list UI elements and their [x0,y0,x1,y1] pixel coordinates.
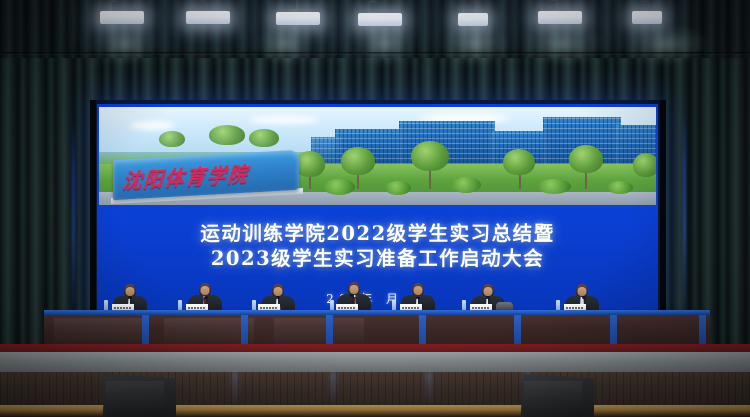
curtain-seam [0,52,750,55]
screen-right-mask [660,100,666,316]
tree [295,151,325,177]
stage-light [458,13,488,26]
light-fixture-housing [466,3,474,12]
shrub [537,179,571,194]
tree [633,153,656,177]
stage-monitor-speaker-right [520,374,594,417]
tree [341,147,375,175]
shrub [323,179,355,195]
desk-microphone [204,296,208,299]
desk-microphone [416,296,420,299]
tree [249,129,279,147]
stage-light [186,11,230,24]
light-fixture-housing [198,2,206,11]
curtain-highlight [620,24,710,64]
curtain-highlight [355,24,415,64]
desk-microphone [486,296,490,299]
speaker-grille [106,381,164,417]
auditorium-stage-scene: 沈阳体育学院 运动训练学院2022级学生实习总结暨 2023级学生实习准备工作启… [0,0,750,417]
floor-light-reflection [232,372,238,406]
floor-light-reflection [330,372,336,406]
blue-light-strip [72,120,75,310]
stage-light [100,11,144,24]
curtain-highlight [520,24,605,64]
light-fixture-housing [640,2,648,11]
tree [503,149,535,175]
stage-monitor-speaker-left [102,374,176,417]
floor-light-reflection [426,372,432,406]
tree [159,131,185,147]
banner-title-line-1: 运动训练学院2022级学生实习总结暨 [97,222,658,247]
stage-light [276,12,320,25]
shrub [451,177,481,193]
desk-microphone [128,296,132,299]
blue-light-strip [683,110,686,310]
cloud [249,116,319,124]
desk-microphone [350,294,354,297]
stage-light [632,11,662,24]
light-fixture-housing [112,2,120,11]
speaker-grille [524,381,582,417]
tree [411,141,449,171]
light-fixture-housing [288,0,296,9]
curtain-highlight [255,24,315,64]
shrub [385,181,411,195]
tree [569,145,603,173]
cloud [129,121,175,130]
monument-inscription: 沈阳体育学院 [121,156,292,195]
screen-left-mask [90,100,96,316]
desk-microphone [276,296,280,299]
campus-photo: 沈阳体育学院 [99,107,656,205]
desk-microphone [582,296,586,299]
shrub [607,181,633,194]
stage-light [538,11,582,24]
banner-title-line-2: 2023级学生实习准备工作启动大会 [97,247,658,272]
light-fixture-housing [370,3,378,12]
tree [209,125,245,145]
curtain-highlight [440,24,510,64]
stage-light [358,13,402,26]
banner-title: 运动训练学院2022级学生实习总结暨 2023级学生实习准备工作启动大会 [97,222,658,272]
curtain-highlight [90,24,160,64]
light-fixture-housing [548,1,556,10]
led-screen: 沈阳体育学院 运动训练学院2022级学生实习总结暨 2023级学生实习准备工作启… [97,104,658,312]
